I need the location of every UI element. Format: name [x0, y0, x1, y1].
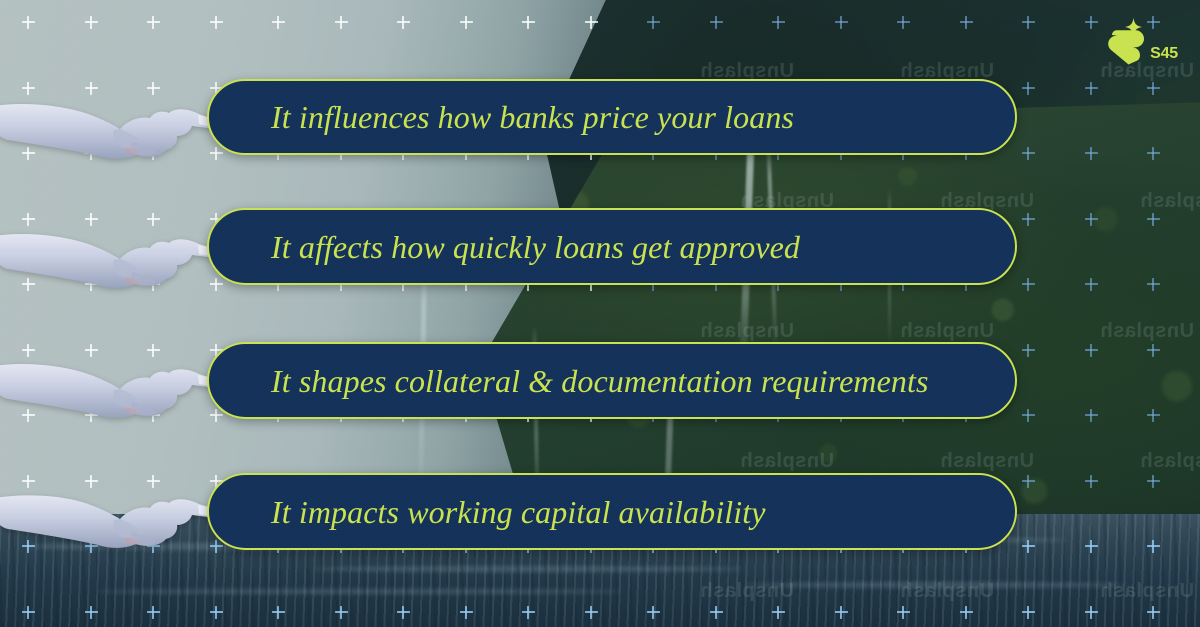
statement-text: It affects how quickly loans get approve… [271, 231, 800, 263]
infographic-canvas: UnsplashUnsplashUnsplashUnsplashUnsplash… [0, 0, 1200, 627]
statement-pill-working-capital[interactable]: It impacts working capital availability [207, 473, 1017, 550]
statement-pill-collateral-docs[interactable]: It shapes collateral & documentation req… [207, 342, 1017, 419]
statement-text: It shapes collateral & documentation req… [271, 365, 929, 397]
statement-text: It impacts working capital availability [271, 496, 766, 528]
statement-pill-pricing[interactable]: It influences how banks price your loans [207, 79, 1017, 155]
brand-logo[interactable]: S45 [1104, 16, 1178, 66]
s45-heart-sparkle-logo-icon [1104, 16, 1148, 66]
statement-list: It influences how banks price your loans… [0, 0, 1200, 627]
statement-pill-approval-speed[interactable]: It affects how quickly loans get approve… [207, 208, 1017, 285]
statement-text: It influences how banks price your loans [271, 101, 794, 133]
brand-logo-text: S45 [1150, 46, 1178, 62]
